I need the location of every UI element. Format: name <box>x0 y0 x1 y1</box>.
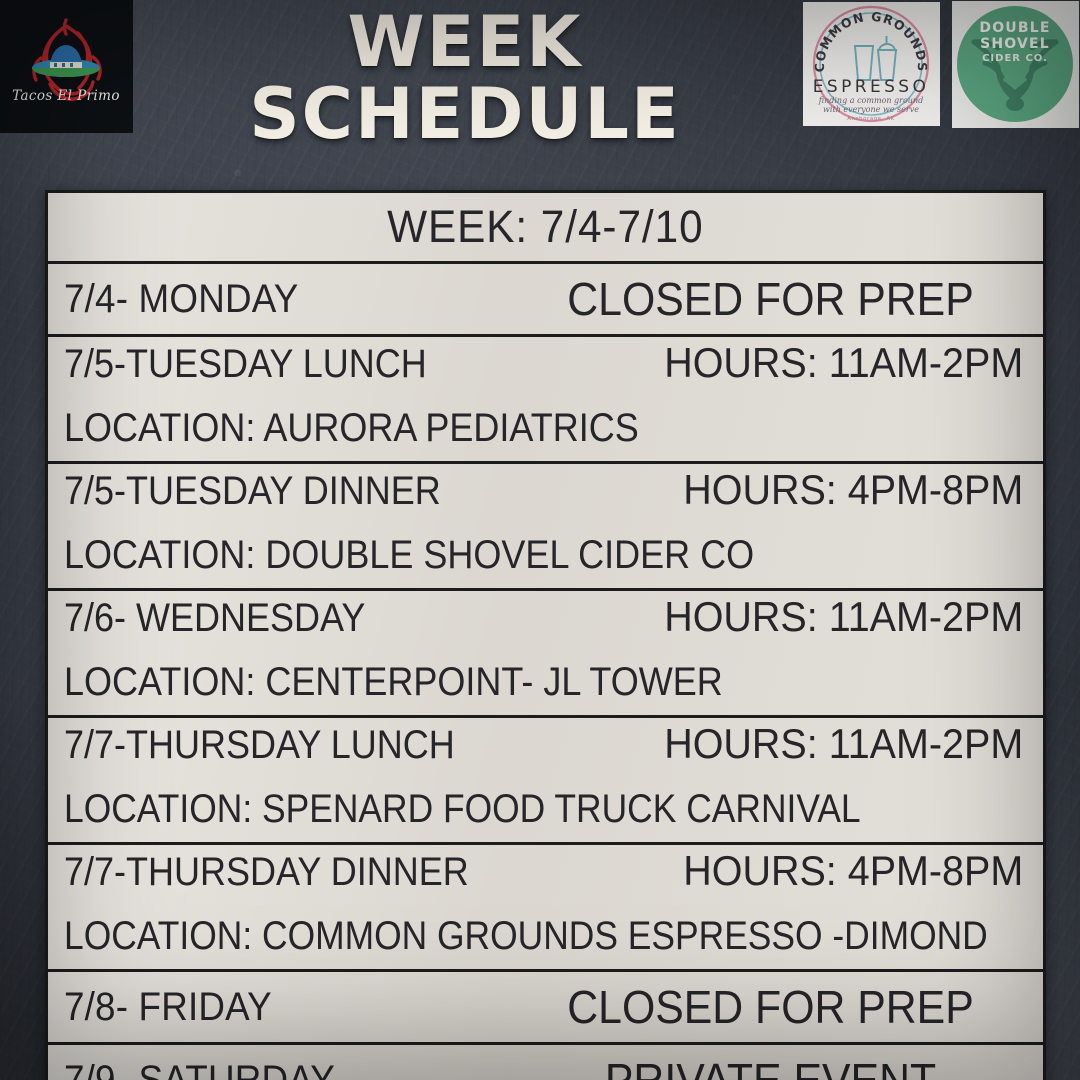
svg-text:finding a common ground: finding a common ground <box>818 96 923 105</box>
hours-label: HOURS: 11AM-2PM <box>545 339 1027 387</box>
day-label: 7/5-TUESDAY DINNER <box>64 469 469 514</box>
svg-text:with everyone we serve: with everyone we serve <box>823 105 919 114</box>
schedule-row-tuesday-lunch: 7/5-TUESDAY LUNCH HOURS: 11AM-2PM LOCATI… <box>48 337 1043 464</box>
location-label: LOCATION: DOUBLE SHOVEL CIDER CO <box>64 526 931 584</box>
day-label: 7/7-THURSDAY DINNER <box>64 850 469 895</box>
day-hours-line: 7/7-THURSDAY LUNCH HOURS: 11AM-2PM <box>64 720 1027 780</box>
day-label: 7/7-THURSDAY LUNCH <box>64 723 469 768</box>
hours-label: HOURS: 4PM-8PM <box>545 466 1027 514</box>
schedule-row-wednesday: 7/6- WEDNESDAY HOURS: 11AM-2PM LOCATION:… <box>48 591 1043 718</box>
title-line-1: WEEK <box>140 6 790 78</box>
svg-text:SHOVEL: SHOVEL <box>980 36 1050 52</box>
status-note: CLOSED FOR PREP <box>532 272 1009 326</box>
week-range-row: WEEK: 7/4-7/10 <box>48 193 1043 264</box>
svg-text:ESPRESSO: ESPRESSO <box>813 77 930 97</box>
hours-label: HOURS: 11AM-2PM <box>545 720 1027 768</box>
double-shovel-cider-logo: DOUBLE SHOVEL CIDER CO. <box>952 1 1079 128</box>
status-note: PRIVATE EVENT <box>532 1053 1009 1080</box>
day-hours-line: 7/7-THURSDAY DINNER HOURS: 4PM-8PM <box>64 847 1027 907</box>
schedule-row-friday: 7/8- FRIDAY CLOSED FOR PREP <box>48 972 1043 1045</box>
day-hours-line: 7/6- WEDNESDAY HOURS: 11AM-2PM <box>64 593 1027 653</box>
week-range-label: WEEK: 7/4-7/10 <box>387 201 703 253</box>
schedule-row-saturday: 7/9- SATURDAY PRIVATE EVENT <box>48 1045 1043 1080</box>
day-label: 7/9- SATURDAY <box>64 1058 478 1080</box>
day-hours-line: 7/5-TUESDAY LUNCH HOURS: 11AM-2PM <box>64 339 1027 399</box>
location-label: LOCATION: SPENARD FOOD TRUCK CARNIVAL <box>64 780 916 838</box>
schedule-row-monday: 7/4- MONDAY CLOSED FOR PREP <box>48 264 1043 337</box>
tacos-el-primo-logo: Tacos El Primo <box>0 0 133 133</box>
schedule-row-thursday-dinner: 7/7-THURSDAY DINNER HOURS: 4PM-8PM LOCAT… <box>48 845 1043 972</box>
svg-text:DOUBLE: DOUBLE <box>979 20 1050 36</box>
location-label: LOCATION: CENTERPOINT- JL TOWER <box>64 653 931 711</box>
day-label: 7/8- FRIDAY <box>64 985 478 1030</box>
svg-text:Anchorage, AK: Anchorage, AK <box>847 116 895 122</box>
svg-text:Tacos El Primo: Tacos El Primo <box>12 88 120 104</box>
day-label: 7/4- MONDAY <box>64 277 478 322</box>
day-label: 7/6- WEDNESDAY <box>64 596 469 641</box>
page-title: WEEK SCHEDULE <box>140 6 790 150</box>
status-note: CLOSED FOR PREP <box>532 980 1009 1034</box>
schedule-panel: WEEK: 7/4-7/10 7/4- MONDAY CLOSED FOR PR… <box>45 190 1046 1080</box>
title-line-2: SCHEDULE <box>140 78 790 150</box>
day-hours-line: 7/5-TUESDAY DINNER HOURS: 4PM-8PM <box>64 466 1027 526</box>
common-grounds-espresso-logo: COMMON GROUNDS ESPRESSO finding a common… <box>803 2 940 126</box>
hours-label: HOURS: 4PM-8PM <box>545 847 1027 895</box>
schedule-row-thursday-lunch: 7/7-THURSDAY LUNCH HOURS: 11AM-2PM LOCAT… <box>48 718 1043 845</box>
svg-text:CIDER CO.: CIDER CO. <box>982 53 1048 64</box>
schedule-row-tuesday-dinner: 7/5-TUESDAY DINNER HOURS: 4PM-8PM LOCATI… <box>48 464 1043 591</box>
location-label: LOCATION: AURORA PEDIATRICS <box>64 399 931 457</box>
hours-label: HOURS: 11AM-2PM <box>545 593 1027 641</box>
day-label: 7/5-TUESDAY LUNCH <box>64 342 469 387</box>
location-label: LOCATION: COMMON GROUNDS ESPRESSO -DIMON… <box>64 907 916 965</box>
chalkboard-background: Tacos El Primo COMMON GROUNDS ESP <box>0 0 1080 1080</box>
